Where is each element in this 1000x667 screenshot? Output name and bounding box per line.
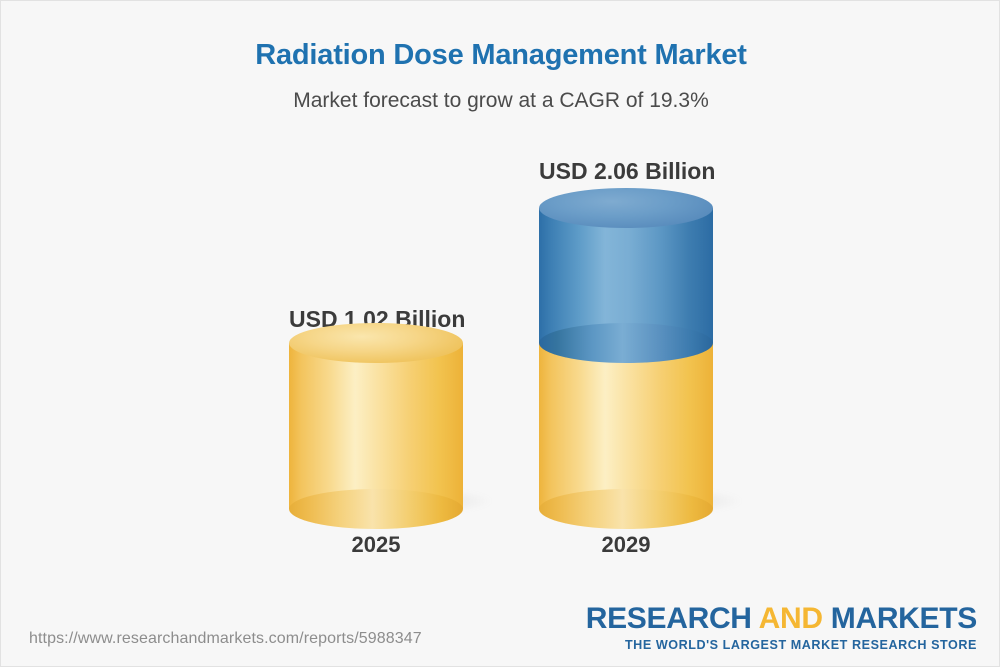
bar-2029 — [539, 208, 713, 509]
brand-logo: RESEARCH AND MARKETS THE WORLD'S LARGEST… — [586, 604, 977, 652]
axis-tick-2029: 2029 — [539, 532, 713, 558]
chart-plot-area: USD 1.02 Billion USD 2.06 Billion 2025 2… — [1, 1, 1000, 601]
source-url[interactable]: https://www.researchandmarkets.com/repor… — [29, 630, 422, 648]
infographic-canvas: Radiation Dose Management Market Market … — [0, 0, 1000, 667]
axis-tick-2025: 2025 — [289, 532, 463, 558]
bar-2025-body — [289, 343, 463, 509]
brand-word-research: RESEARCH — [586, 602, 752, 635]
bar-2025 — [289, 343, 463, 509]
brand-word-markets: MARKETS — [831, 602, 977, 635]
bar-2025-top-ellipse — [289, 323, 463, 363]
brand-wordmark: RESEARCH AND MARKETS — [586, 604, 977, 634]
bar-2029-upper-bottom-ellipse — [539, 323, 713, 363]
bar-2029-base-ellipse — [539, 489, 713, 529]
data-label-2029: USD 2.06 Billion — [539, 158, 713, 185]
bar-2029-base-segment — [539, 343, 713, 509]
brand-word-and: AND — [759, 602, 823, 635]
bar-2029-top-ellipse — [539, 188, 713, 228]
bar-2029-upper-body — [539, 208, 713, 343]
bar-2025-base-ellipse — [289, 489, 463, 529]
brand-tagline: THE WORLD'S LARGEST MARKET RESEARCH STOR… — [586, 639, 977, 652]
